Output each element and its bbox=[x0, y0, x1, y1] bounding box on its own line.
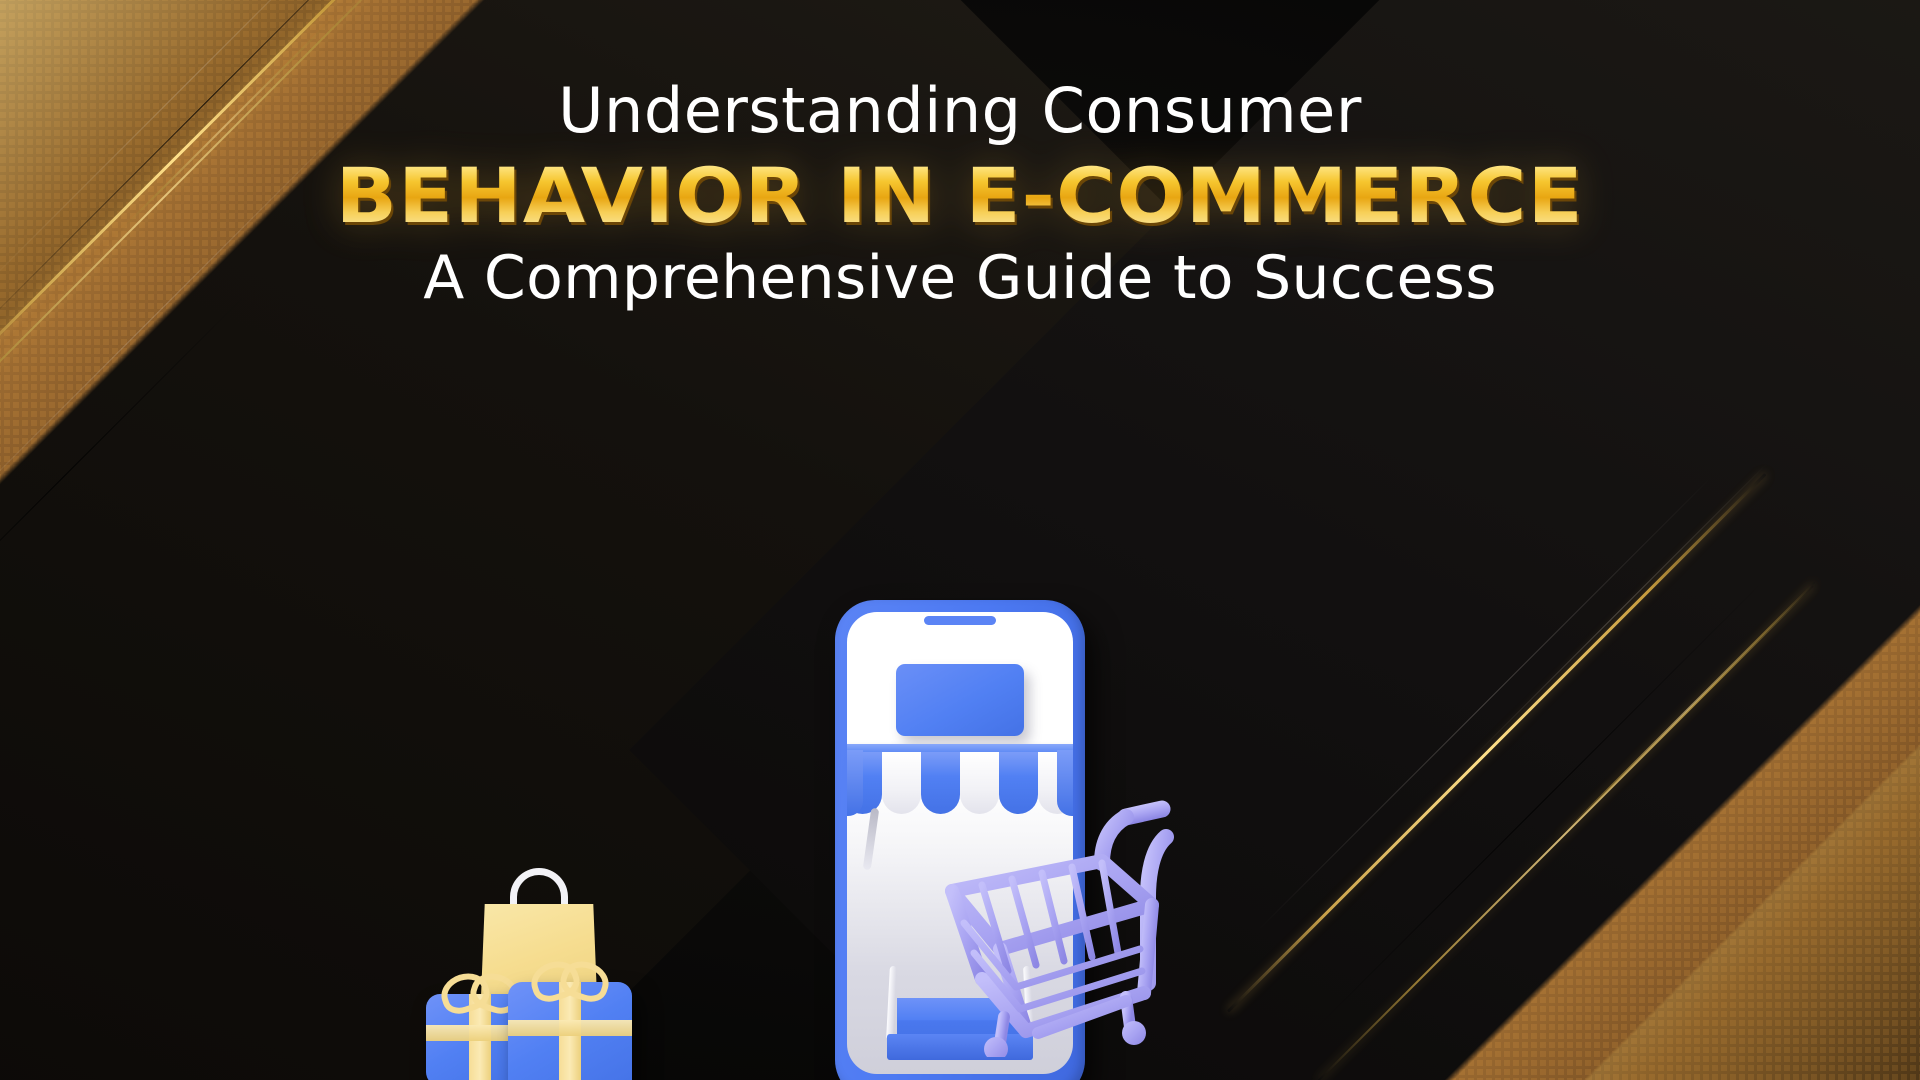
headline-line-1: Understanding Consumer bbox=[0, 78, 1920, 145]
banner-root: Understanding Consumer BEHAVIOR IN E-COM… bbox=[0, 0, 1920, 1080]
shopping-bag-handle-icon bbox=[510, 868, 568, 910]
gift-ribbon-horizontal bbox=[508, 1020, 632, 1036]
cart-wheel bbox=[1122, 1021, 1146, 1045]
store-sign-icon bbox=[896, 664, 1024, 736]
awning-end-left bbox=[847, 750, 863, 816]
headline-block: Understanding Consumer BEHAVIOR IN E-COM… bbox=[0, 78, 1920, 311]
headline-line-2-gold: BEHAVIOR IN E-COMMERCE bbox=[336, 151, 1584, 241]
awning-scallop bbox=[882, 752, 921, 814]
store-hanger-bar bbox=[863, 808, 880, 871]
shopping-cart-icon bbox=[930, 787, 1220, 1062]
gift-bow-icon bbox=[531, 962, 609, 992]
gift-box-large-icon bbox=[508, 982, 632, 1080]
phone-notch bbox=[924, 616, 996, 625]
illustration-group bbox=[0, 520, 1920, 1080]
counter-post-left bbox=[886, 966, 897, 1040]
headline-line-3-subtitle: A Comprehensive Guide to Success bbox=[0, 245, 1920, 311]
